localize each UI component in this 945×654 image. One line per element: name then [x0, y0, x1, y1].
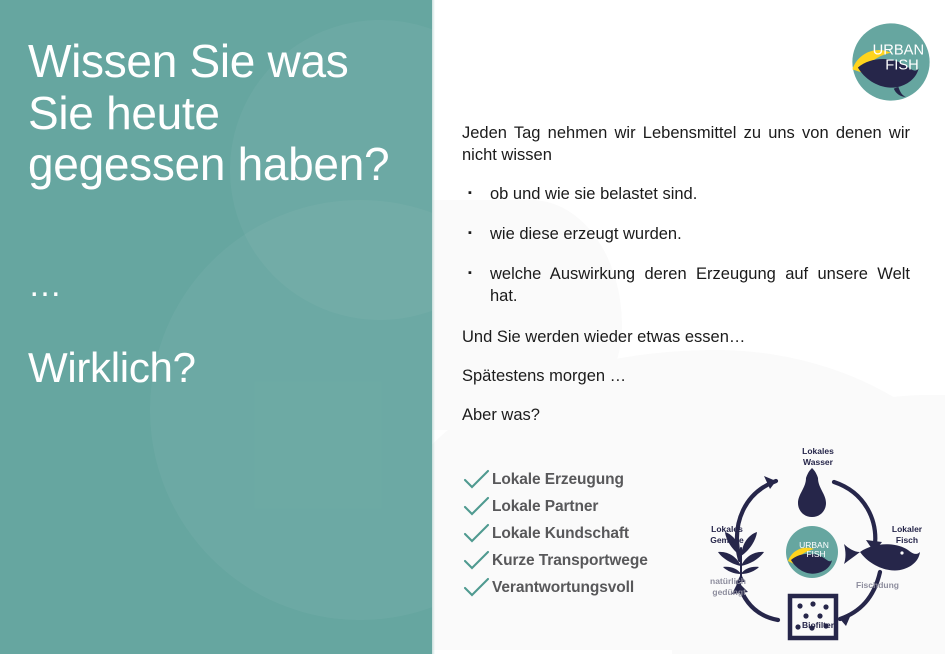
cycle-node-label-gemuese: Lokales Gemüse [694, 524, 760, 545]
cycle-node-label-fisch: Lokaler Fisch [874, 524, 940, 545]
list-item-label: Lokale Erzeugung [492, 471, 712, 489]
bullet-item: ▪ ob und wie sie belastet sind. [462, 183, 910, 205]
panel-divider [432, 0, 435, 654]
cycle-edge-label-fischdung: Fischdung [856, 580, 899, 591]
closing-paragraph: Aber was? [462, 404, 910, 426]
cycle-node-label-biofilter: Biofilter [778, 620, 858, 631]
right-content-panel: URBAN FISH Jeden Tag nehmen wir Lebensmi… [432, 0, 945, 654]
list-item-label: Lokale Kundschaft [492, 525, 712, 543]
body-copy: Jeden Tag nehmen wir Lebensmittel zu uns… [462, 122, 910, 426]
list-item-label: Kurze Transportwege [492, 552, 712, 570]
lead-paragraph: Jeden Tag nehmen wir Lebensmittel zu uns… [462, 122, 910, 167]
square-bullet-icon: ▪ [468, 223, 490, 245]
left-teal-panel: Wissen Sie was Sie heute gegessen haben?… [0, 0, 432, 654]
list-item-label: Lokale Partner [492, 498, 712, 516]
logo-line1: URBAN [873, 43, 925, 59]
bullet-item: ▪ wie diese erzeugt wurden. [462, 223, 910, 245]
list-item: Lokale Erzeugung [462, 466, 712, 493]
list-item: Kurze Transportwege [462, 547, 712, 574]
title-ellipsis: … [28, 268, 62, 302]
page-title: Wissen Sie was Sie heute gegessen haben? [28, 36, 418, 191]
bullet-label: wie diese erzeugt wurden. [490, 223, 910, 245]
check-icon [462, 523, 492, 545]
list-item-label: Verantwortungsvoll [492, 579, 712, 597]
list-item: Lokale Kundschaft [462, 520, 712, 547]
urban-fish-logo: URBAN FISH [845, 16, 937, 108]
check-icon [462, 577, 492, 599]
cycle-node-label-wasser: Lokales Wasser [776, 446, 860, 467]
closing-paragraph: Spätestens morgen … [462, 365, 910, 387]
aquaponics-cycle-diagram: URBAN FISH Lokales Wasser Lokaler Fisch … [694, 440, 942, 645]
bullet-label: welche Auswirkung deren Erzeugung auf un… [490, 263, 910, 308]
square-bullet-icon: ▪ [468, 263, 490, 308]
slide-canvas: Wissen Sie was Sie heute gegessen haben?… [0, 0, 945, 654]
urban-fish-logo-small: URBAN FISH [786, 526, 838, 578]
check-icon [462, 469, 492, 491]
check-icon [462, 496, 492, 518]
check-icon [462, 550, 492, 572]
cycle-edge-label-geduengt: natürlich gedüngt [710, 576, 746, 597]
logo-line2: FISH [885, 57, 919, 73]
closing-paragraph: Und Sie werden wieder etwas essen… [462, 326, 910, 348]
benefits-checklist: Lokale Erzeugung Lokale Partner Lokale K… [462, 466, 712, 601]
list-item: Verantwortungsvoll [462, 574, 712, 601]
square-bullet-icon: ▪ [468, 183, 490, 205]
page-subtitle: Wirklich? [28, 345, 196, 391]
svg-text:FISH: FISH [806, 549, 825, 559]
bullet-item: ▪ welche Auswirkung deren Erzeugung auf … [462, 263, 910, 308]
bullet-label: ob und wie sie belastet sind. [490, 183, 910, 205]
list-item: Lokale Partner [462, 493, 712, 520]
